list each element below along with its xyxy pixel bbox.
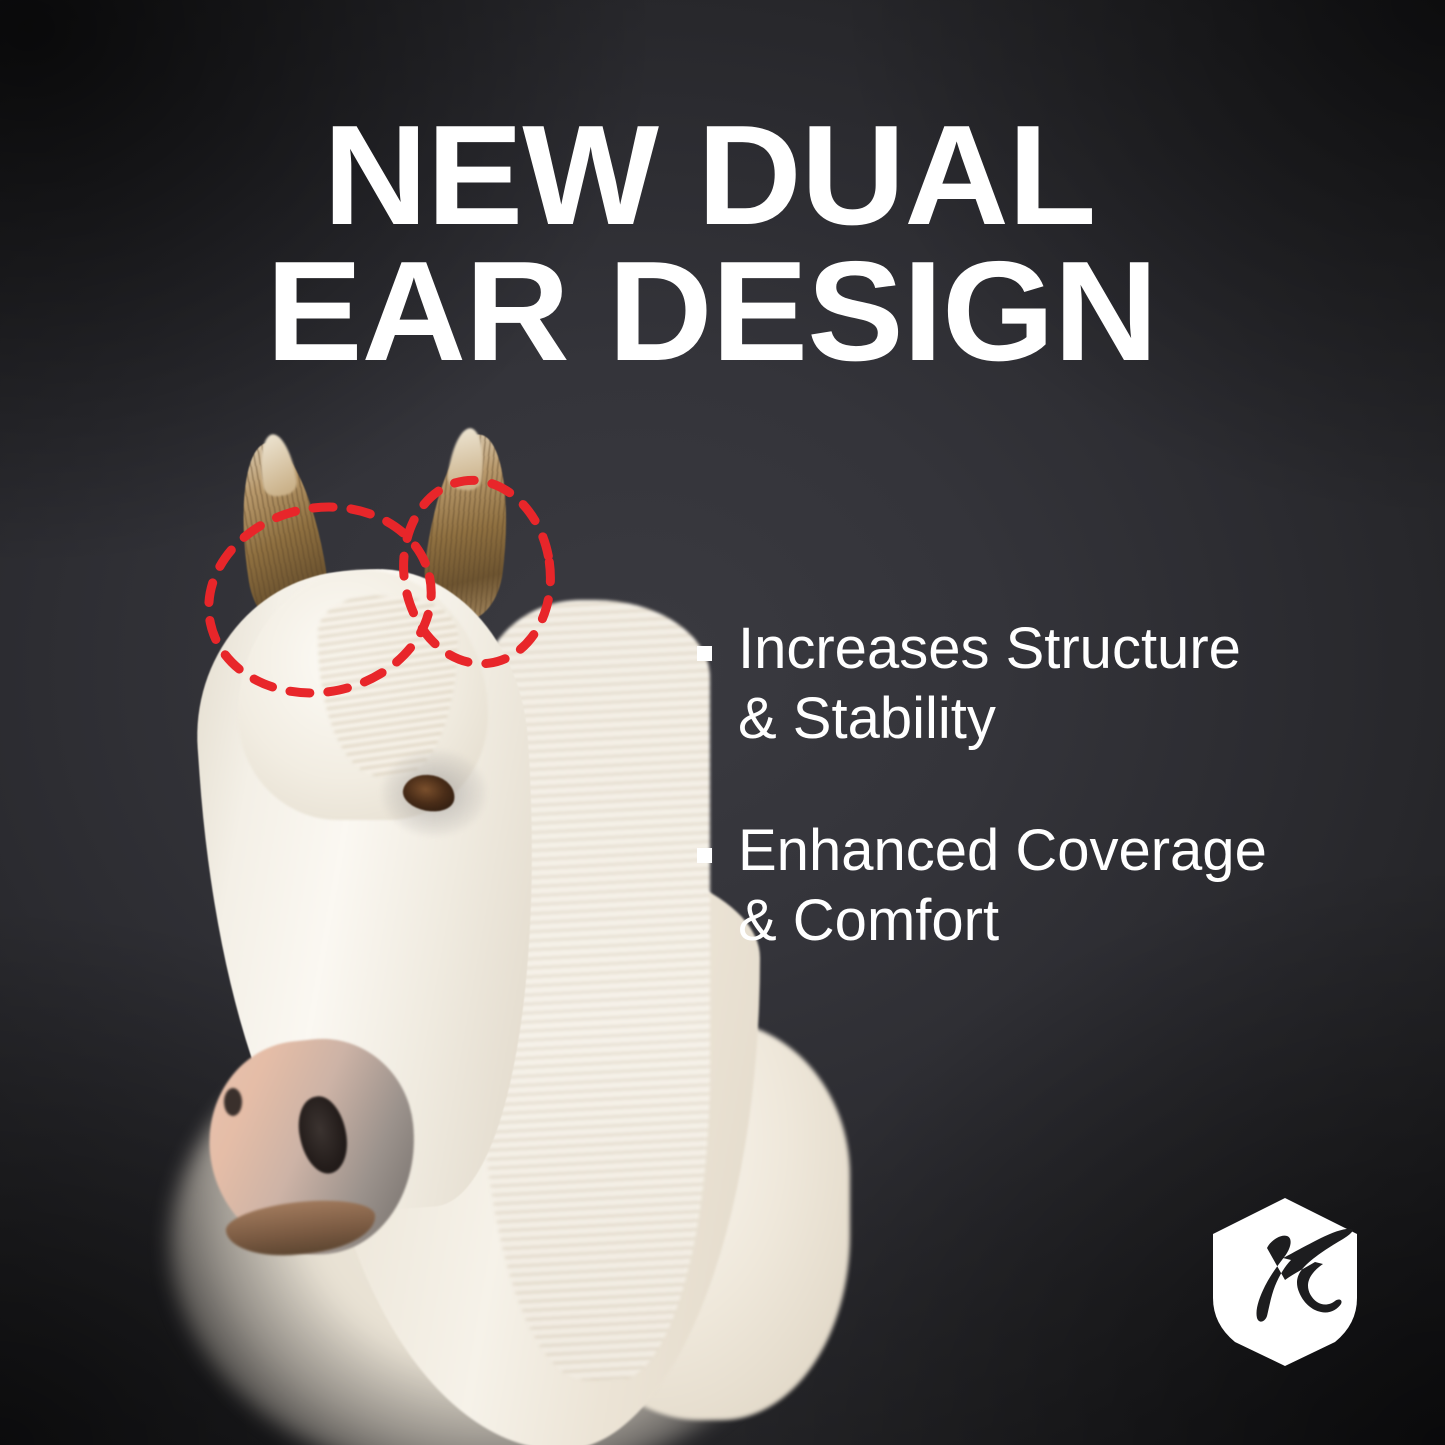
square-bullet-icon [697,646,712,661]
feature-list: Increases Structure & Stability Enhanced… [697,614,1357,1018]
shield-k-logo-icon [1205,1196,1365,1368]
square-bullet-icon [697,848,712,863]
headline-line-2: EAR DESIGN [266,244,1245,380]
headline-line-1: NEW DUAL [266,108,1245,244]
horse-nostril-left [224,1088,242,1116]
feature-1-line-2: & Stability [738,686,996,751]
feature-2-line-2: & Comfort [738,888,999,953]
list-item: Enhanced Coverage & Comfort [697,816,1357,956]
page-title: NEW DUAL EAR DESIGN [266,108,1245,380]
feature-text-1: Increases Structure & Stability [738,614,1241,754]
list-item: Increases Structure & Stability [697,614,1357,754]
feature-1-line-1: Increases Structure [738,616,1241,681]
logo-shield-shape [1213,1198,1357,1366]
promo-poster: NEW DUAL EAR DESIGN Increases Structure … [0,0,1445,1445]
feature-text-2: Enhanced Coverage & Comfort [738,816,1267,956]
feature-2-line-1: Enhanced Coverage [738,818,1267,883]
